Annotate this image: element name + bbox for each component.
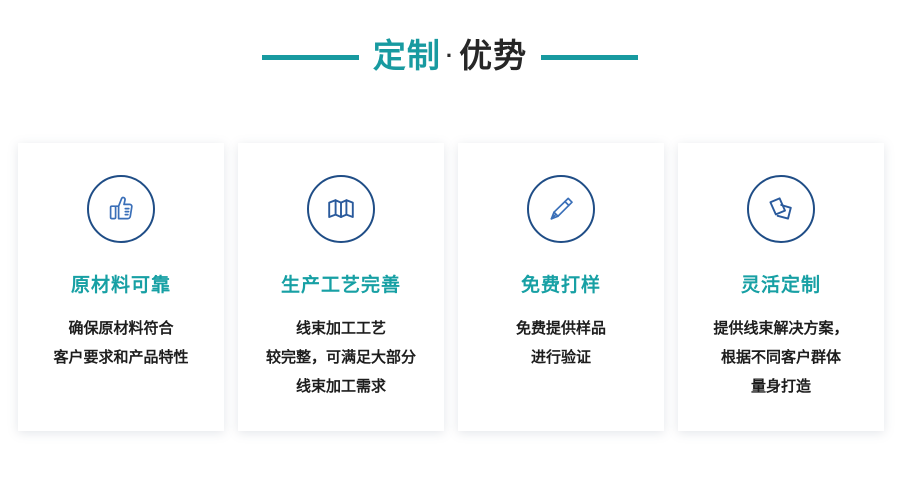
icon-ring <box>307 175 375 243</box>
header-rule-left <box>262 55 359 60</box>
folded-map-icon <box>324 192 358 226</box>
card-body: 确保原材料符合 客户要求和产品特性 <box>22 314 220 372</box>
icon-ring <box>87 175 155 243</box>
card-body-line: 免费提供样品 <box>468 314 654 343</box>
card-body: 线束加工工艺 较完整，可满足大部分 线束加工需求 <box>242 314 440 401</box>
card-body-line: 较完整，可满足大部分 <box>248 343 434 372</box>
card-body-line: 线束加工工艺 <box>248 314 434 343</box>
section-header: 定制 · 优势 <box>0 0 900 110</box>
stacked-cards-icon <box>764 192 798 226</box>
thumbs-up-icon <box>104 192 138 226</box>
card-body-line: 线束加工需求 <box>248 372 434 401</box>
card-body-line: 提供线束解决方案， <box>688 314 874 343</box>
card-title: 原材料可靠 <box>22 275 220 298</box>
card-title: 灵活定制 <box>682 275 880 298</box>
card-body-line: 量身打造 <box>688 372 874 401</box>
page-title-separator: · <box>441 45 459 67</box>
feature-card[interactable]: 原材料可靠 确保原材料符合 客户要求和产品特性 <box>18 143 224 431</box>
page-title: 定制 · 优势 <box>373 39 527 72</box>
feature-card-list: 原材料可靠 确保原材料符合 客户要求和产品特性 生产工艺完善 线束加工工艺 较完… <box>18 143 884 431</box>
page-title-plain: 优势 <box>459 39 527 72</box>
card-body-line: 根据不同客户群体 <box>688 343 874 372</box>
card-body: 提供线束解决方案， 根据不同客户群体 量身打造 <box>682 314 880 401</box>
feature-card[interactable]: 免费打样 免费提供样品 进行验证 <box>458 143 664 431</box>
card-title: 生产工艺完善 <box>242 275 440 298</box>
card-body-line: 确保原材料符合 <box>28 314 214 343</box>
card-title: 免费打样 <box>462 275 660 298</box>
icon-ring <box>527 175 595 243</box>
feature-card[interactable]: 灵活定制 提供线束解决方案， 根据不同客户群体 量身打造 <box>678 143 884 431</box>
feature-card[interactable]: 生产工艺完善 线束加工工艺 较完整，可满足大部分 线束加工需求 <box>238 143 444 431</box>
card-body: 免费提供样品 进行验证 <box>462 314 660 372</box>
page-title-accent: 定制 <box>373 39 441 72</box>
card-body-line: 进行验证 <box>468 343 654 372</box>
card-body-line: 客户要求和产品特性 <box>28 343 214 372</box>
header-rule-right <box>541 55 638 60</box>
pencil-icon <box>544 192 578 226</box>
icon-ring <box>747 175 815 243</box>
